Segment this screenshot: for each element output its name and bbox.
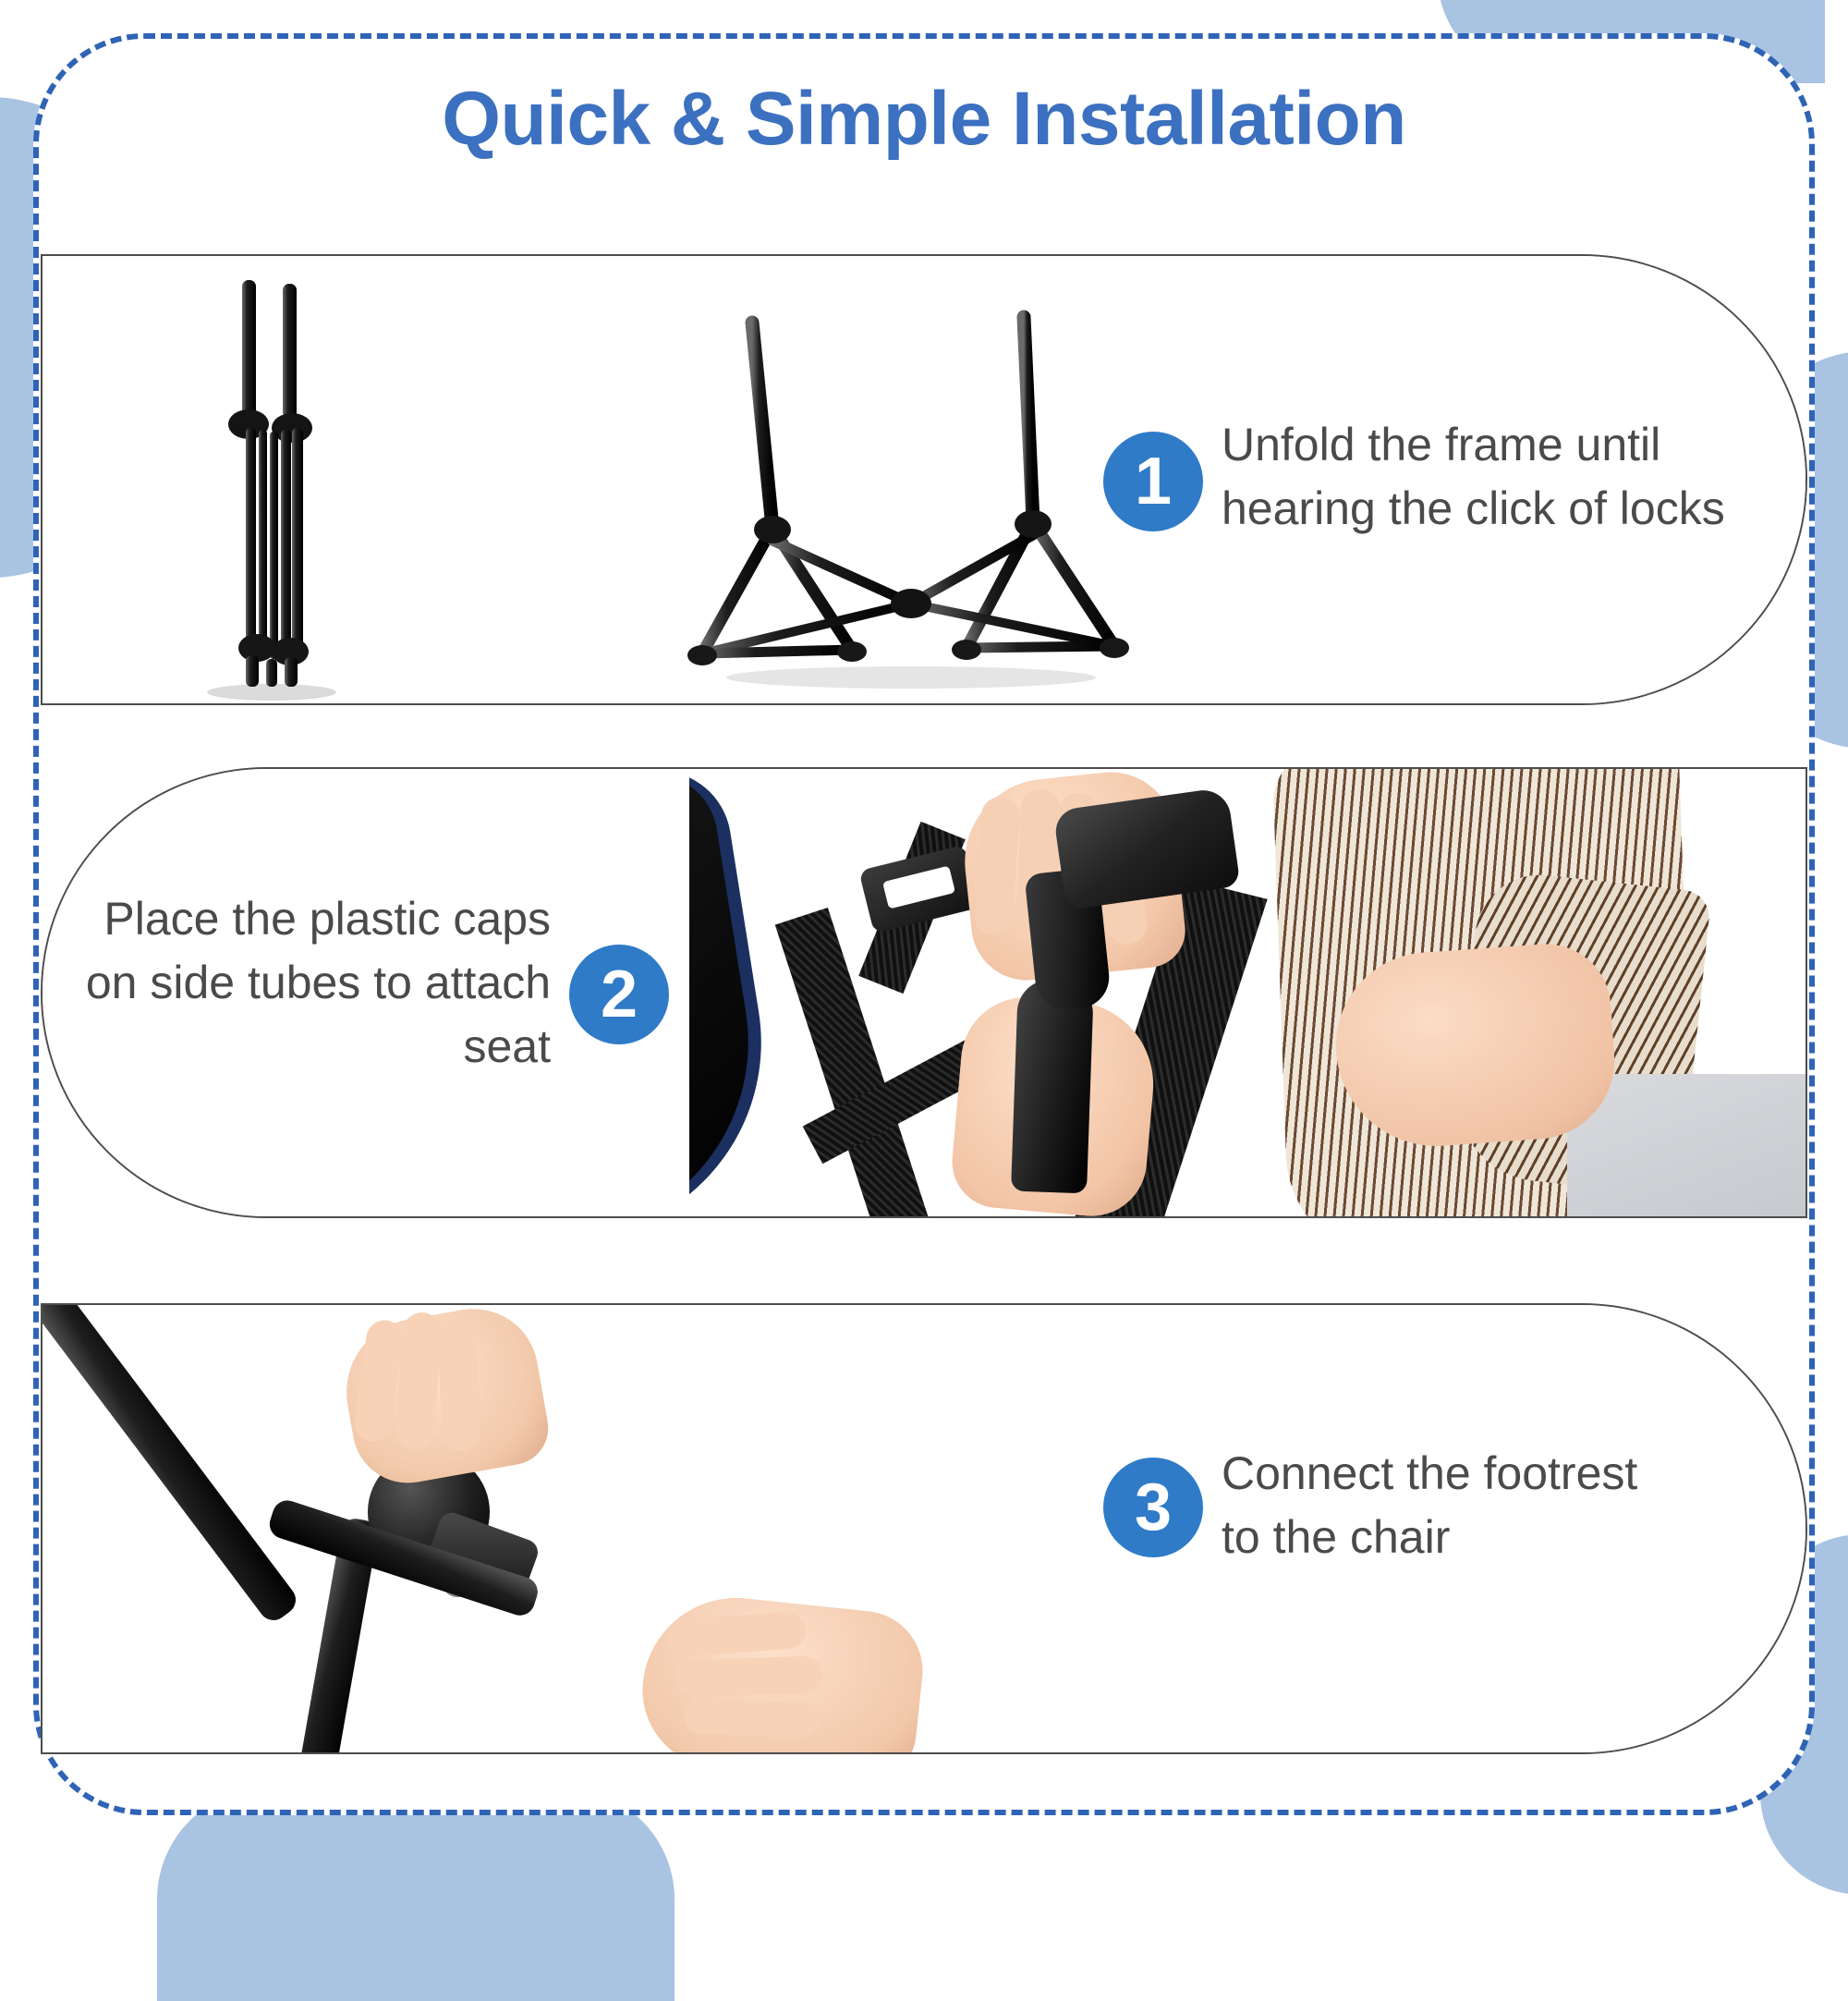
plastic-cap: [1011, 979, 1094, 1194]
step-panel-2: 2 Place the plastic caps on side tubes t…: [41, 767, 1807, 1218]
step-3-illustration: [43, 1305, 1077, 1752]
infographic-canvas: Quick & Simple Installation: [0, 0, 1848, 1848]
step-badge-1: 1: [1103, 432, 1203, 531]
step-2-illustration: [689, 769, 1805, 1216]
strap-buckle: [858, 845, 979, 933]
step-text-2: Place the plastic caps on side tubes to …: [41, 887, 551, 1079]
step-panel-1: 1 Unfold the frame until hearing the cli…: [41, 254, 1807, 705]
finger: [683, 1698, 819, 1738]
step-text-3: Connect the footrest to the chair: [1222, 1442, 1776, 1569]
forearm: [1330, 940, 1620, 1153]
step-panel-3: 3 Connect the footrest to the chair: [41, 1303, 1807, 1754]
finger: [675, 1655, 822, 1697]
step-badge-2: 2: [569, 945, 669, 1044]
folded-frame-image: [153, 256, 634, 705]
seat-fabric: [689, 769, 776, 1216]
step-text-1: Unfold the frame until hearing the click…: [1222, 413, 1776, 541]
page-title: Quick & Simple Installation: [0, 81, 1848, 157]
step-badge-3: 3: [1103, 1458, 1203, 1557]
chair-frame-tube: [43, 1305, 301, 1626]
finger: [437, 1315, 480, 1451]
